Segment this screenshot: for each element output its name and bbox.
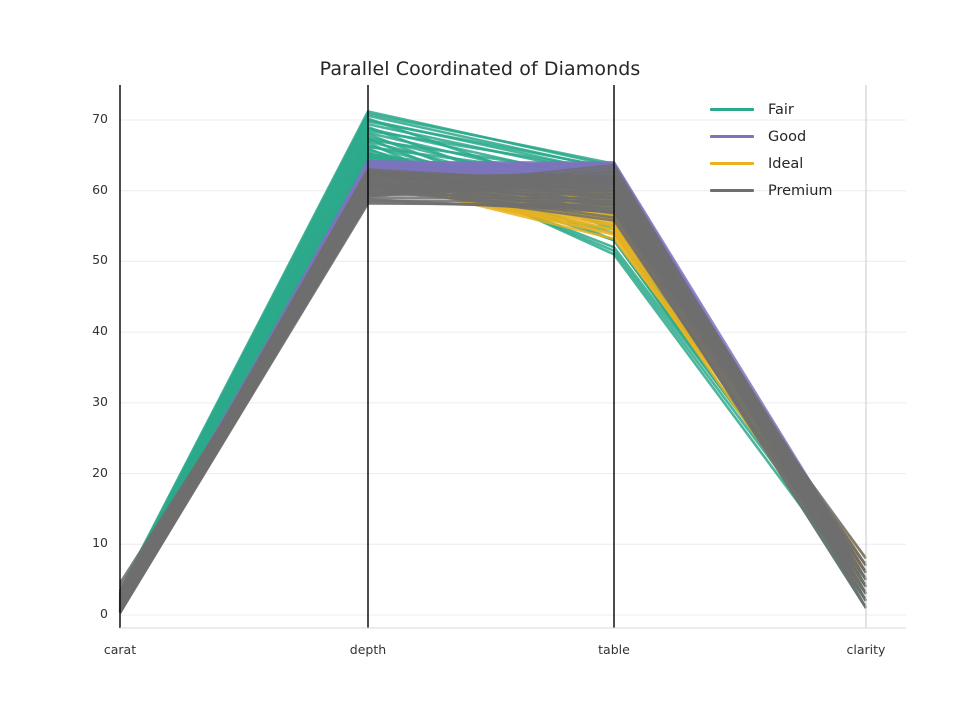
y-tick-label: 0 — [60, 606, 108, 621]
legend-swatch-icon — [710, 189, 754, 192]
legend-label: Good — [768, 129, 806, 145]
x-tick-label-clarity[interactable]: clarity — [806, 642, 926, 657]
y-tick-label: 10 — [60, 535, 108, 550]
x-tick-label-depth[interactable]: depth — [308, 642, 428, 657]
legend-item-ideal[interactable]: Ideal — [710, 150, 890, 177]
legend-item-fair[interactable]: Fair — [710, 96, 890, 123]
legend-swatch-icon — [710, 108, 754, 111]
parallel-coordinates-figure: Parallel Coordinated of Diamonds 0102030… — [0, 0, 960, 720]
legend-item-premium[interactable]: Premium — [710, 177, 890, 204]
legend-label: Fair — [768, 102, 794, 118]
legend-swatch-icon — [710, 162, 754, 165]
legend: FairGoodIdealPremium — [710, 96, 890, 204]
y-tick-label: 60 — [60, 182, 108, 197]
y-tick-label: 70 — [60, 111, 108, 126]
legend-label: Premium — [768, 183, 833, 199]
legend-swatch-icon — [710, 135, 754, 138]
x-tick-label-table[interactable]: table — [554, 642, 674, 657]
y-tick-label: 30 — [60, 394, 108, 409]
legend-item-good[interactable]: Good — [710, 123, 890, 150]
y-tick-label: 20 — [60, 465, 108, 480]
y-tick-label: 50 — [60, 252, 108, 267]
legend-label: Ideal — [768, 156, 803, 172]
x-tick-label-carat[interactable]: carat — [60, 642, 180, 657]
y-tick-label: 40 — [60, 323, 108, 338]
